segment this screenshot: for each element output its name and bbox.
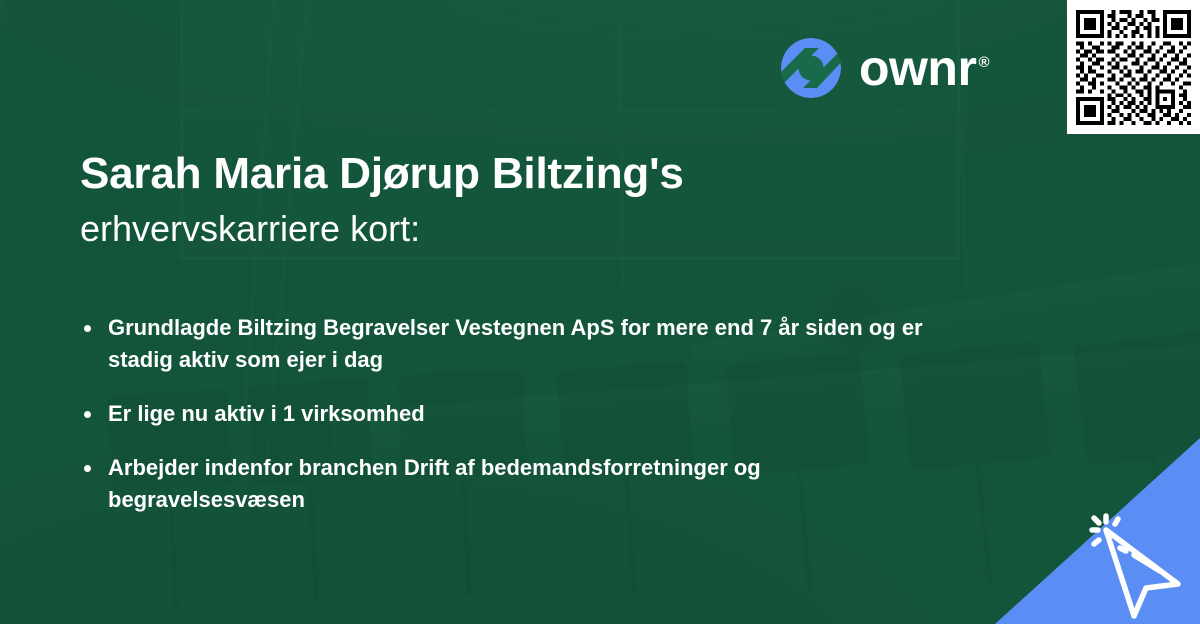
bullet-dot-icon: [84, 325, 91, 332]
page-title: Sarah Maria Djørup Biltzing's erhvervska…: [80, 148, 980, 253]
headline-name: Sarah Maria Djørup Biltzing's: [80, 148, 980, 200]
ownr-business-card: ownr®: [0, 0, 1200, 624]
list-item: Arbejder indenfor branchen Drift af bede…: [80, 452, 960, 516]
click-cursor-icon: [1082, 508, 1194, 620]
headline-subtitle: erhvervskarriere kort:: [80, 206, 980, 253]
bullet-dot-icon: [84, 411, 91, 418]
qr-code-panel[interactable]: [1067, 0, 1200, 134]
ownr-logo[interactable]: ownr®: [779, 36, 989, 100]
ownr-circle-logo-icon: [779, 36, 843, 100]
fact-text: Arbejder indenfor branchen Drift af bede…: [108, 455, 761, 512]
list-item: Grundlagde Biltzing Begravelser Vestegne…: [80, 312, 960, 376]
bullet-dot-icon: [84, 465, 91, 472]
career-facts-list: Grundlagde Biltzing Begravelser Vestegne…: [80, 312, 960, 515]
wordmark-text: ownr: [859, 40, 976, 96]
qr-code-icon: [1076, 10, 1191, 125]
fact-text: Er lige nu aktiv i 1 virksomhed: [108, 401, 425, 426]
ownr-wordmark: ownr®: [859, 43, 989, 93]
list-item: Er lige nu aktiv i 1 virksomhed: [80, 398, 960, 430]
registered-mark: ®: [978, 54, 989, 71]
fact-text: Grundlagde Biltzing Begravelser Vestegne…: [108, 315, 923, 372]
